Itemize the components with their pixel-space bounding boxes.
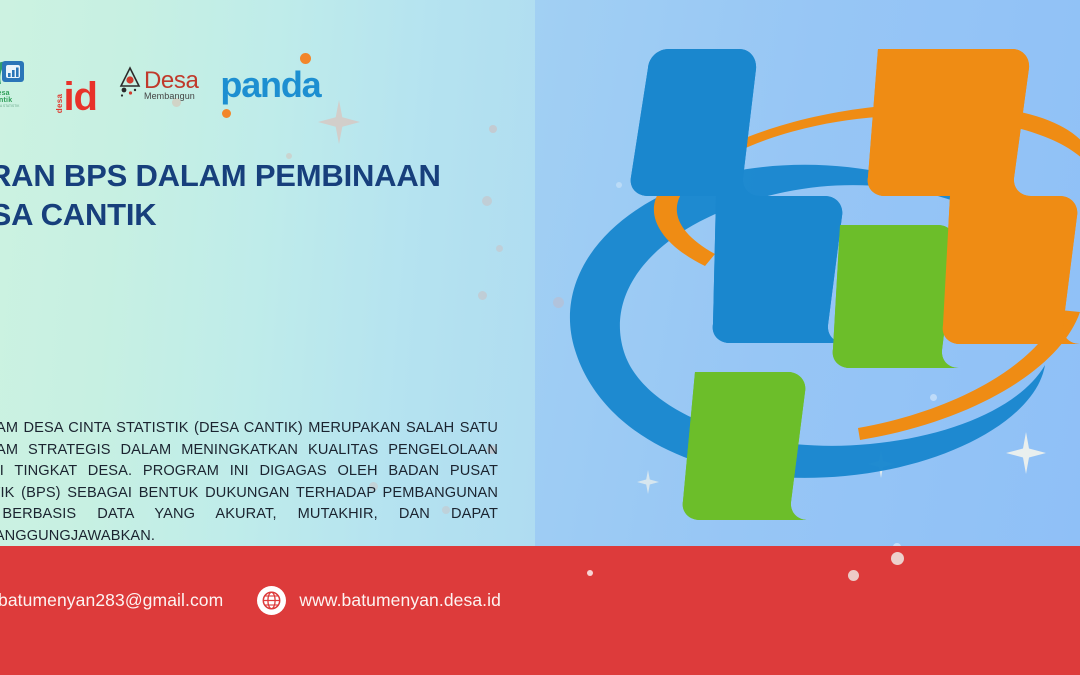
sparkle-icon [318, 100, 360, 144]
logo-desa-membangun: Desa Membangun [119, 56, 198, 114]
desa-id-prefix: desa [55, 94, 64, 113]
footer-contacts: batumenyan283@gmail.com www.batumenyan.d… [0, 586, 501, 615]
desa-membangun-house-icon [119, 66, 141, 105]
logo-desa-id: desa id [50, 56, 97, 114]
page-title: PERAN BPS DALAM PEMBINAAN DESA CANTIK [0, 156, 508, 234]
desa-membangun-title: Desa [144, 70, 198, 91]
bps-logo-artwork [540, 20, 1080, 550]
contact-website[interactable]: www.batumenyan.desa.id [257, 586, 501, 615]
desa-cantik-tagline: DESA CINTA STATISTIK [0, 104, 20, 108]
footer-decor-dot [848, 570, 859, 581]
body-paragraph: PROGRAM DESA CINTA STATISTIK (DESA CANTI… [0, 418, 498, 547]
decor-dot [478, 291, 487, 300]
poster-canvas: Desa Cantik DESA CINTA STATISTIK desa id [0, 0, 1080, 675]
desa-cantik-mark-icon [0, 56, 28, 90]
logo-desa-cantik: Desa Cantik DESA CINTA STATISTIK [0, 56, 28, 114]
decor-dot [496, 245, 503, 252]
email-text: batumenyan283@gmail.com [0, 590, 223, 611]
contact-email[interactable]: batumenyan283@gmail.com [0, 586, 223, 615]
panda-dot-icon [300, 53, 311, 64]
desa-id-mark: id [63, 80, 97, 114]
desa-membangun-subtitle: Membangun [144, 91, 198, 101]
partner-logo-row: Desa Cantik DESA CINTA STATISTIK desa id [0, 56, 320, 114]
footer-decor-dot [587, 570, 593, 576]
desa-cantik-label2: Cantik [0, 97, 12, 104]
website-text: www.batumenyan.desa.id [299, 590, 501, 611]
panda-wordmark: panda [220, 67, 320, 103]
globe-icon [257, 586, 286, 615]
desa-cantik-label: Desa [0, 90, 10, 97]
decor-dot [489, 125, 497, 133]
logo-panda: panda [220, 56, 320, 114]
footer-decor-dot [891, 552, 904, 565]
